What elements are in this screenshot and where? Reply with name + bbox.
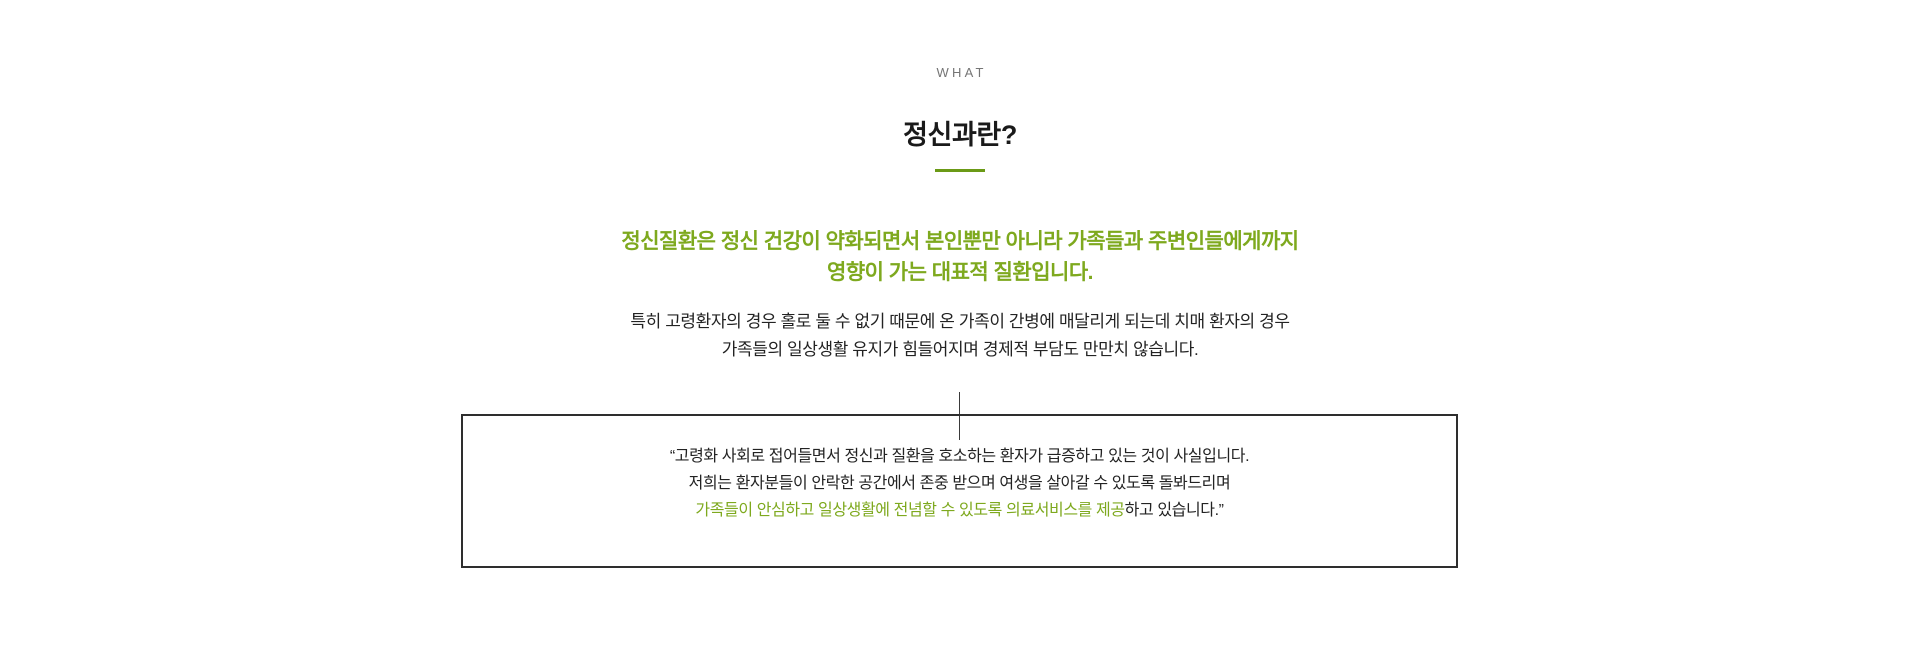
body-line-1: 특히 고령환자의 경우 홀로 둘 수 없기 때문에 온 가족이 간병에 매달리게… (0, 308, 1920, 336)
quote-line-3-highlight: 가족들이 안심하고 일상생활에 전념할 수 있도록 의료서비스를 제공 (695, 502, 1124, 519)
section-kicker: WHAT (0, 64, 1920, 82)
page-root: WHAT 정신과란? 정신질환은 정신 건강이 약화되면서 본인뿐만 아니라 가… (0, 0, 1920, 649)
quote-box: “고령화 사회로 접어들면서 정신과 질환을 호소하는 환자가 급증하고 있는 … (461, 414, 1458, 568)
body-paragraph: 특히 고령환자의 경우 홀로 둘 수 없기 때문에 온 가족이 간병에 매달리게… (0, 308, 1920, 364)
lead-paragraph: 정신질환은 정신 건강이 약화되면서 본인뿐만 아니라 가족들과 주변인들에게까… (0, 226, 1920, 288)
quote-line-3-tail: 하고 있습니다.” (1125, 502, 1224, 519)
page-title: 정신과란? (0, 117, 1920, 153)
quote-line-3: 가족들이 안심하고 일상생활에 전념할 수 있도록 의료서비스를 제공하고 있습… (463, 497, 1456, 524)
quote-line-1: “고령화 사회로 접어들면서 정신과 질환을 호소하는 환자가 급증하고 있는 … (463, 443, 1456, 470)
lead-line-2: 영향이 가는 대표적 질환입니다. (0, 257, 1920, 288)
quote-line-2: 저희는 환자분들이 안락한 공간에서 존중 받으며 여생을 살아갈 수 있도록 … (463, 470, 1456, 497)
body-line-2: 가족들의 일상생활 유지가 힘들어지며 경제적 부담도 만만치 않습니다. (0, 336, 1920, 364)
title-divider (935, 169, 985, 172)
quote-text: “고령화 사회로 접어들면서 정신과 질환을 호소하는 환자가 급증하고 있는 … (463, 443, 1456, 524)
lead-line-1: 정신질환은 정신 건강이 약화되면서 본인뿐만 아니라 가족들과 주변인들에게까… (0, 226, 1920, 257)
